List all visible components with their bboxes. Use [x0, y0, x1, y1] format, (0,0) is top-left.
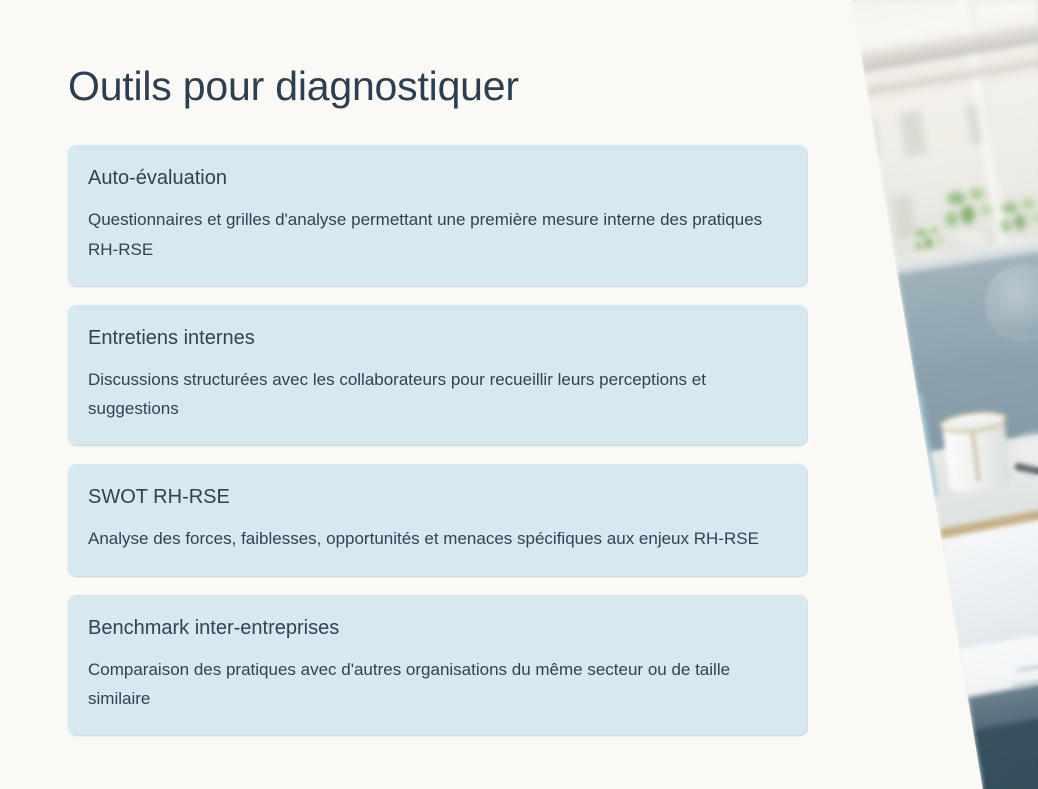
tool-card[interactable]: Benchmark inter-entreprises Comparaison … — [68, 595, 807, 735]
tool-card-title: Entretiens internes — [88, 326, 783, 351]
plant-leaves — [942, 185, 995, 240]
tool-card-description: Discussions structurées avec les collabo… — [88, 365, 783, 423]
tool-card[interactable]: Auto-évaluation Questionnaires et grille… — [68, 145, 807, 285]
slide-root: Outils pour diagnostiquer Auto-évaluatio… — [0, 0, 1038, 789]
tool-card-description: Analyse des forces, faiblesses, opportun… — [88, 524, 783, 553]
tool-card[interactable]: Entretiens internes Discussions structur… — [68, 305, 807, 445]
tool-card-title: Benchmark inter-entreprises — [88, 616, 783, 641]
clipboard-clip — [885, 582, 914, 603]
page-title: Outils pour diagnostiquer — [68, 62, 860, 110]
tool-card[interactable]: SWOT RH-RSE Analyse des forces, faibless… — [68, 464, 807, 575]
tool-card-title: SWOT RH-RSE — [88, 485, 783, 510]
tool-card-title: Auto-évaluation — [88, 166, 783, 191]
tools-card-list: Auto-évaluation Questionnaires et grille… — [68, 145, 807, 735]
plant-leaves — [998, 196, 1038, 244]
tool-card-description: Questionnaires et grilles d'analyse perm… — [88, 205, 783, 263]
coffee-cup — [941, 409, 1013, 502]
tool-card-description: Comparaison des pratiques avec d'autres … — [88, 655, 783, 713]
content-column: Outils pour diagnostiquer Auto-évaluatio… — [0, 0, 860, 789]
